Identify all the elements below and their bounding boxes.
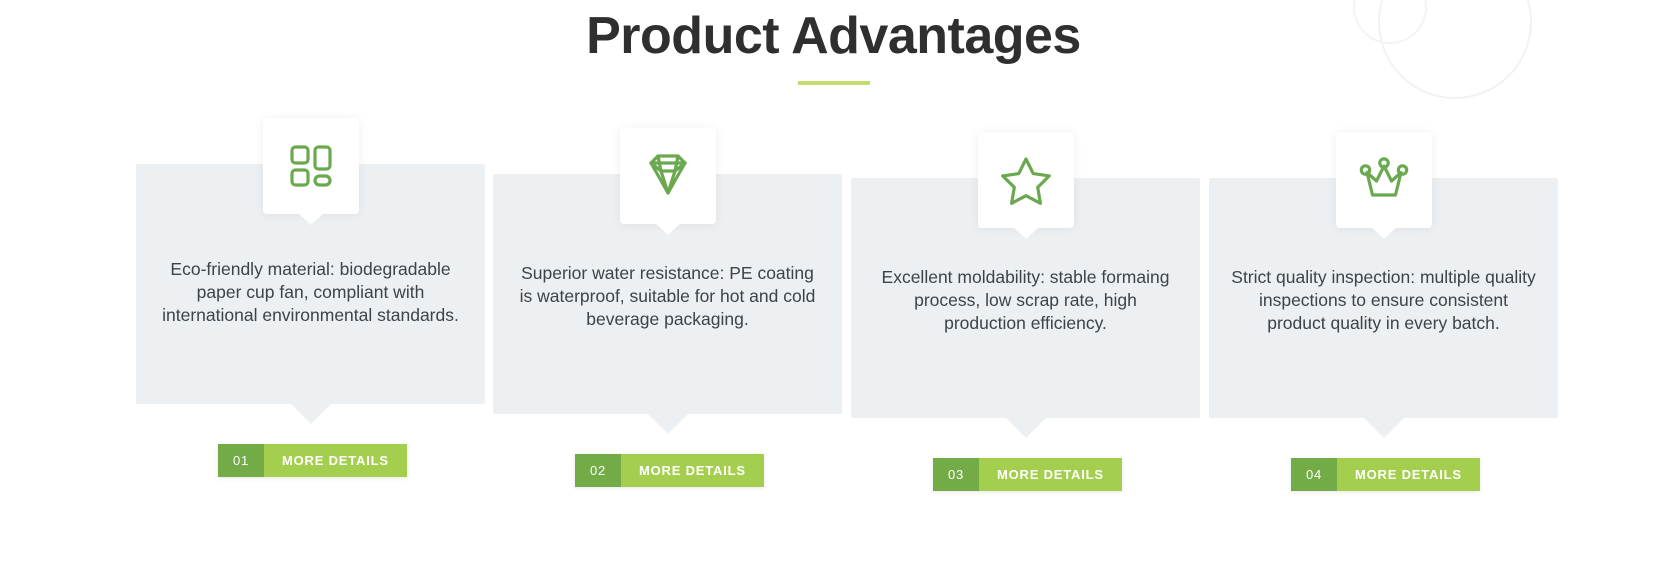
more-details-button-2[interactable]: 02 MORE DETAILS	[575, 454, 764, 487]
card-number-3: 03	[933, 458, 979, 491]
more-details-button-4[interactable]: 04 MORE DETAILS	[1291, 458, 1480, 491]
card-text-3: Excellent moldability: stable formaing p…	[851, 266, 1200, 335]
panel-caret-3	[1005, 417, 1047, 438]
advantage-card-3: Excellent moldability: stable formaing p…	[851, 178, 1200, 418]
grid-icon	[285, 140, 337, 192]
more-details-label-1: MORE DETAILS	[264, 444, 407, 477]
more-details-button-3[interactable]: 03 MORE DETAILS	[933, 458, 1122, 491]
card-text-4: Strict quality inspection: multiple qual…	[1209, 266, 1558, 335]
card-text-2: Superior water resistance: PE coating is…	[493, 262, 842, 331]
icon-bubble-2	[620, 128, 716, 224]
icon-bubble-1	[263, 118, 359, 214]
advantage-card-1: Eco-friendly material: biodegradable pap…	[136, 164, 485, 404]
diamond-icon	[641, 149, 695, 203]
more-details-label-2: MORE DETAILS	[621, 454, 764, 487]
icon-bubble-4	[1336, 132, 1432, 228]
icon-bubble-3	[978, 132, 1074, 228]
card-number-1: 01	[218, 444, 264, 477]
star-icon	[999, 153, 1053, 207]
more-details-label-3: MORE DETAILS	[979, 458, 1122, 491]
advantage-card-list: Eco-friendly material: biodegradable pap…	[0, 0, 1667, 586]
crown-icon	[1357, 153, 1411, 207]
advantage-card-4: Strict quality inspection: multiple qual…	[1209, 178, 1558, 418]
card-text-1: Eco-friendly material: biodegradable pap…	[136, 258, 485, 327]
panel-caret-1	[290, 403, 332, 424]
panel-caret-2	[647, 413, 689, 434]
more-details-label-4: MORE DETAILS	[1337, 458, 1480, 491]
card-number-2: 02	[575, 454, 621, 487]
advantage-card-2: Superior water resistance: PE coating is…	[493, 174, 842, 414]
panel-caret-4	[1363, 417, 1405, 438]
more-details-button-1[interactable]: 01 MORE DETAILS	[218, 444, 407, 477]
card-number-4: 04	[1291, 458, 1337, 491]
